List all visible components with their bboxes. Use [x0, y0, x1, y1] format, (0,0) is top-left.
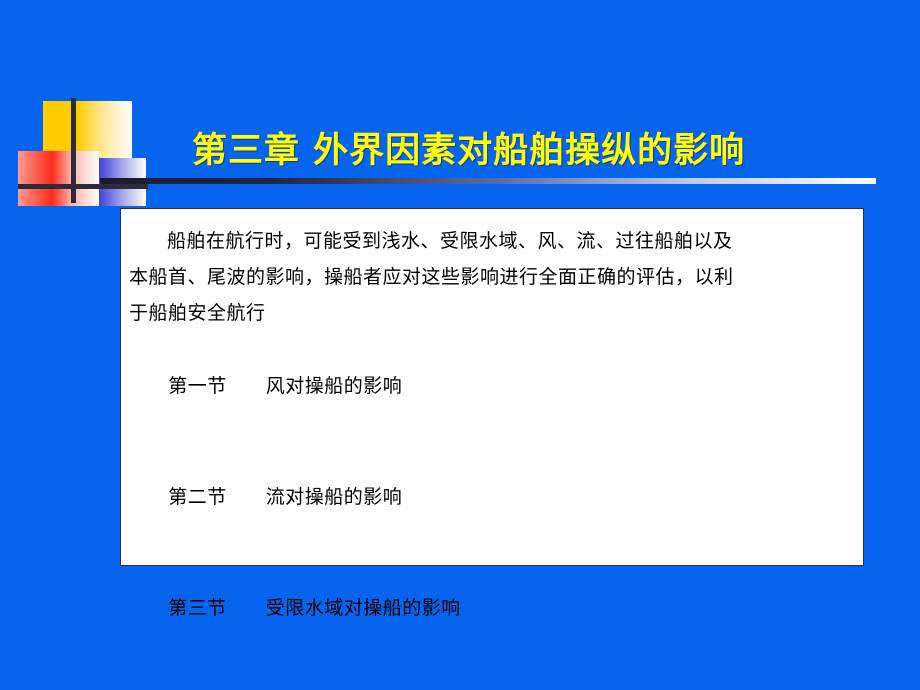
intro-paragraph-line-1: 船舶在航行时，可能受到浅水、受限水域、风、流、过往船舶以及 [129, 223, 849, 259]
intro-paragraph-line-3: 于船舶安全航行 [129, 295, 849, 331]
section-list-item: 第一节 风对操船的影响 [129, 331, 849, 442]
decorative-logo-graphic [18, 98, 148, 203]
section-list-item: 第二节 流对操船的影响 [129, 442, 849, 553]
section-gap [227, 597, 266, 619]
title-divider-rule [100, 178, 876, 184]
content-box: 船舶在航行时，可能受到浅水、受限水域、风、流、过往船舶以及 本船首、尾波的影响，… [120, 208, 864, 566]
section-list-item: 第四节 船间效应 [129, 664, 849, 690]
section-list-item: 第三节 受限水域对操船的影响 [129, 553, 849, 664]
section-title: 流对操船的影响 [266, 486, 403, 508]
section-number: 第三节 [168, 597, 227, 619]
section-gap [227, 486, 266, 508]
red-gradient-square [18, 151, 99, 206]
section-title: 受限水域对操船的影响 [266, 597, 461, 619]
section-title: 风对操船的影响 [266, 375, 403, 397]
section-number: 第一节 [168, 375, 227, 397]
slide-title: 第三章 外界因素对船舶操纵的影响 [192, 122, 745, 173]
horizontal-bar [18, 184, 148, 189]
section-gap [227, 375, 266, 397]
slide-canvas: 第三章 外界因素对船舶操纵的影响 船舶在航行时，可能受到浅水、受限水域、风、流、… [0, 0, 920, 690]
intro-paragraph-line-2: 本船首、尾波的影响，操船者应对这些影响进行全面正确的评估，以利 [129, 259, 849, 295]
section-number: 第二节 [168, 486, 227, 508]
